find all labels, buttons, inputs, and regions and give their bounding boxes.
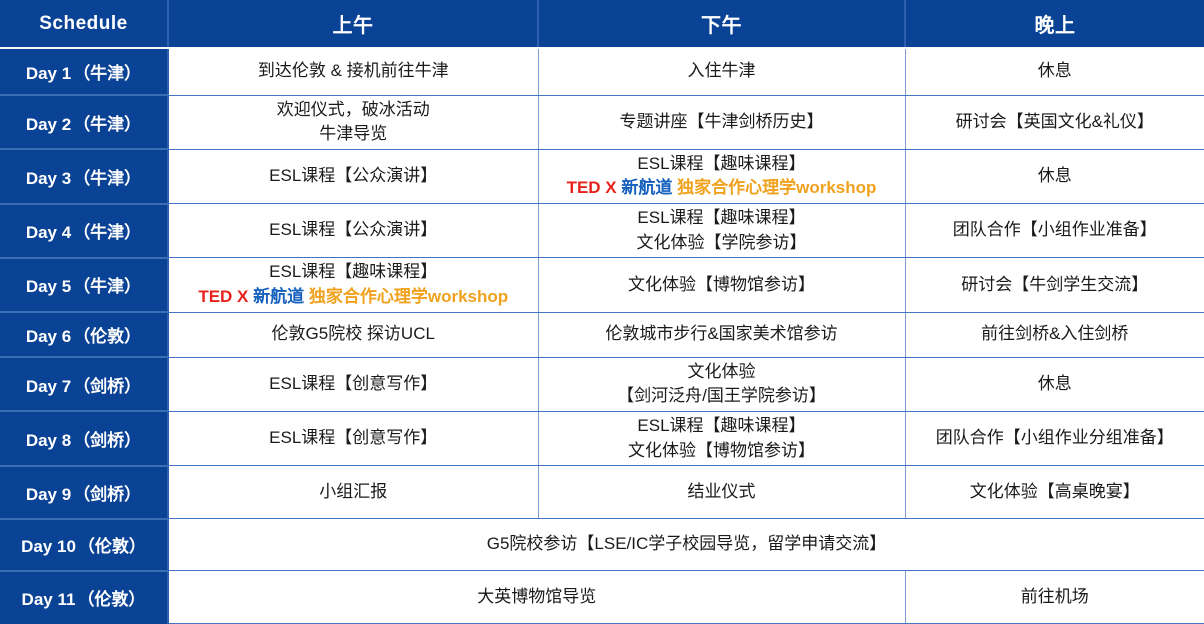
table-row: Day 4（牛津）ESL课程【公众演讲】ESL课程【趣味课程】文化体验【学院参访… <box>0 204 1204 258</box>
cell-afternoon: 伦敦城市步行&国家美术馆参访 <box>538 312 905 357</box>
cell-evening: 研讨会【英国文化&礼仪】 <box>905 95 1204 149</box>
cell-evening: 休息 <box>905 357 1204 411</box>
schedule-table: Schedule 上午 下午 晚上 Day 1（牛津）到达伦敦 & 接机前往牛津… <box>0 0 1204 624</box>
cell-line: 团队合作【小组作业分组准备】 <box>912 426 1199 451</box>
day-location: （剑桥） <box>73 431 141 450</box>
day-number: Day 2 <box>26 115 71 134</box>
cell-line: ESL课程【趣味课程】 <box>545 152 899 177</box>
cell-line: ESL课程【趣味课程】 <box>545 206 899 231</box>
column-header-morning: 上午 <box>168 0 538 48</box>
cell-evening: 研讨会【牛剑学生交流】 <box>905 258 1204 312</box>
brand-tagline: 独家合作心理学workshop <box>309 287 508 306</box>
day-location: （剑桥） <box>73 485 141 504</box>
day-number: Day 1 <box>26 64 71 83</box>
column-header-afternoon: 下午 <box>538 0 905 48</box>
ted-x-branding: TED X 新航道 独家合作心理学workshop <box>175 285 532 310</box>
cell-line: 【剑河泛舟/国王学院参访】 <box>545 384 899 409</box>
cell-morning: ESL课程【创意写作】 <box>168 357 538 411</box>
cell-evening: 休息 <box>905 48 1204 95</box>
cell-afternoon: ESL课程【趣味课程】文化体验【学院参访】 <box>538 204 905 258</box>
cell-morning: ESL课程【趣味课程】TED X 新航道 独家合作心理学workshop <box>168 258 538 312</box>
cell-evening: 团队合作【小组作业分组准备】 <box>905 411 1204 465</box>
day-number: Day 5 <box>26 277 71 296</box>
table-row: Day 1（牛津）到达伦敦 & 接机前往牛津入住牛津休息 <box>0 48 1204 95</box>
cell-line: ESL课程【创意写作】 <box>175 426 532 451</box>
table-row: Day 5（牛津）ESL课程【趣味课程】TED X 新航道 独家合作心理学wor… <box>0 258 1204 312</box>
table-row: Day 6（伦敦）伦敦G5院校 探访UCL伦敦城市步行&国家美术馆参访前往剑桥&… <box>0 312 1204 357</box>
cell-evening: 前往剑桥&入住剑桥 <box>905 312 1204 357</box>
cell-evening: 团队合作【小组作业准备】 <box>905 204 1204 258</box>
cell-line: ESL课程【公众演讲】 <box>175 218 532 243</box>
cell-morning: 伦敦G5院校 探访UCL <box>168 312 538 357</box>
table-row: Day 7（剑桥）ESL课程【创意写作】文化体验【剑河泛舟/国王学院参访】休息 <box>0 357 1204 411</box>
day-number: Day 3 <box>26 169 71 188</box>
cell-line: 团队合作【小组作业准备】 <box>912 218 1199 243</box>
cell-line: 前往剑桥&入住剑桥 <box>912 322 1199 347</box>
cell-afternoon: ESL课程【趣味课程】文化体验【博物馆参访】 <box>538 411 905 465</box>
cell-line: 欢迎仪式，破冰活动 <box>175 98 532 123</box>
day-label-2: Day 2（牛津） <box>0 95 168 149</box>
cell-line: 结业仪式 <box>545 480 899 505</box>
table-row: Day 2（牛津）欢迎仪式，破冰活动牛津导览专题讲座【牛津剑桥历史】研讨会【英国… <box>0 95 1204 149</box>
day-location: （伦敦） <box>73 327 141 346</box>
cell-full-span: G5院校参访【LSE/IC学子校园导览，留学申请交流】 <box>168 519 1204 571</box>
cell-afternoon: 文化体验【剑河泛舟/国王学院参访】 <box>538 357 905 411</box>
cell-evening: 休息 <box>905 149 1204 203</box>
table-row: Day 9（剑桥）小组汇报结业仪式文化体验【高桌晚宴】 <box>0 466 1204 519</box>
day-label-3: Day 3（牛津） <box>0 149 168 203</box>
cell-morning: ESL课程【公众演讲】 <box>168 204 538 258</box>
cell-line: 文化体验 <box>545 360 899 385</box>
cell-evening: 前往机场 <box>905 571 1204 624</box>
cell-morning: ESL课程【创意写作】 <box>168 411 538 465</box>
cell-line: 休息 <box>912 164 1199 189</box>
day-label-5: Day 5（牛津） <box>0 258 168 312</box>
brand-company-name: 新航道 <box>253 287 309 306</box>
cell-line: ESL课程【趣味课程】 <box>545 414 899 439</box>
day-number: Day 8 <box>26 431 71 450</box>
cell-line: 休息 <box>912 59 1199 84</box>
brand-tagline: 独家合作心理学workshop <box>677 178 876 197</box>
cell-line: 伦敦城市步行&国家美术馆参访 <box>545 322 899 347</box>
cell-line: 牛津导览 <box>175 122 532 147</box>
day-location: （剑桥） <box>73 377 141 396</box>
cell-line: 入住牛津 <box>545 59 899 84</box>
day-location: （伦敦） <box>77 590 145 609</box>
cell-morning: 到达伦敦 & 接机前往牛津 <box>168 48 538 95</box>
cell-afternoon: 结业仪式 <box>538 466 905 519</box>
cell-line: 文化体验【学院参访】 <box>545 231 899 256</box>
cell-line: 休息 <box>912 372 1199 397</box>
cell-evening: 文化体验【高桌晚宴】 <box>905 466 1204 519</box>
brand-company-name: 新航道 <box>621 178 677 197</box>
day-number: Day 7 <box>26 377 71 396</box>
cell-morning: ESL课程【公众演讲】 <box>168 149 538 203</box>
cell-line: 前往机场 <box>912 585 1199 610</box>
header-row: Schedule 上午 下午 晚上 <box>0 0 1204 48</box>
day-label-10: Day 10（伦敦） <box>0 519 168 571</box>
cell-line: 小组汇报 <box>175 480 532 505</box>
column-header-evening: 晚上 <box>905 0 1204 48</box>
table-body: Day 1（牛津）到达伦敦 & 接机前往牛津入住牛津休息Day 2（牛津）欢迎仪… <box>0 48 1204 624</box>
cell-line: 大英博物馆导览 <box>175 585 899 610</box>
day-number: Day 6 <box>26 327 71 346</box>
day-number: Day 9 <box>26 485 71 504</box>
cell-line: 到达伦敦 & 接机前往牛津 <box>175 59 532 84</box>
day-label-6: Day 6（伦敦） <box>0 312 168 357</box>
table-row: Day 11（伦敦）大英博物馆导览前往机场 <box>0 571 1204 624</box>
cell-line: ESL课程【公众演讲】 <box>175 164 532 189</box>
ted-x-label: TED X <box>567 178 622 197</box>
day-number: Day 10 <box>21 537 76 556</box>
cell-afternoon: 入住牛津 <box>538 48 905 95</box>
column-header-schedule: Schedule <box>0 0 168 48</box>
ted-x-branding: TED X 新航道 独家合作心理学workshop <box>545 176 899 201</box>
cell-line: ESL课程【趣味课程】 <box>175 260 532 285</box>
day-label-1: Day 1（牛津） <box>0 48 168 95</box>
day-location: （牛津） <box>73 64 141 83</box>
cell-line: 研讨会【英国文化&礼仪】 <box>912 110 1199 135</box>
cell-line: 文化体验【博物馆参访】 <box>545 439 899 464</box>
cell-line: 专题讲座【牛津剑桥历史】 <box>545 110 899 135</box>
table-row: Day 10（伦敦）G5院校参访【LSE/IC学子校园导览，留学申请交流】 <box>0 519 1204 571</box>
cell-line: 文化体验【高桌晚宴】 <box>912 480 1199 505</box>
cell-line: 研讨会【牛剑学生交流】 <box>912 273 1199 298</box>
day-number: Day 4 <box>26 223 71 242</box>
day-label-4: Day 4（牛津） <box>0 204 168 258</box>
day-label-9: Day 9（剑桥） <box>0 466 168 519</box>
day-location: （牛津） <box>73 115 141 134</box>
cell-line: ESL课程【创意写作】 <box>175 372 532 397</box>
cell-line: 文化体验【博物馆参访】 <box>545 273 899 298</box>
cell-morning-afternoon-span: 大英博物馆导览 <box>168 571 905 624</box>
day-label-11: Day 11（伦敦） <box>0 571 168 624</box>
day-location: （牛津） <box>73 169 141 188</box>
cell-morning: 欢迎仪式，破冰活动牛津导览 <box>168 95 538 149</box>
day-label-7: Day 7（剑桥） <box>0 357 168 411</box>
cell-line: 伦敦G5院校 探访UCL <box>175 322 532 347</box>
day-location: （牛津） <box>73 277 141 296</box>
cell-afternoon: ESL课程【趣味课程】TED X 新航道 独家合作心理学workshop <box>538 149 905 203</box>
cell-afternoon: 专题讲座【牛津剑桥历史】 <box>538 95 905 149</box>
cell-line: G5院校参访【LSE/IC学子校园导览，留学申请交流】 <box>175 532 1198 557</box>
day-location: （伦敦） <box>78 537 146 556</box>
table-row: Day 8（剑桥）ESL课程【创意写作】ESL课程【趣味课程】文化体验【博物馆参… <box>0 411 1204 465</box>
cell-afternoon: 文化体验【博物馆参访】 <box>538 258 905 312</box>
day-number: Day 11 <box>22 590 76 609</box>
day-location: （牛津） <box>73 223 141 242</box>
table-row: Day 3（牛津）ESL课程【公众演讲】ESL课程【趣味课程】TED X 新航道… <box>0 149 1204 203</box>
cell-morning: 小组汇报 <box>168 466 538 519</box>
day-label-8: Day 8（剑桥） <box>0 411 168 465</box>
ted-x-label: TED X <box>198 287 253 306</box>
table-header: Schedule 上午 下午 晚上 <box>0 0 1204 48</box>
